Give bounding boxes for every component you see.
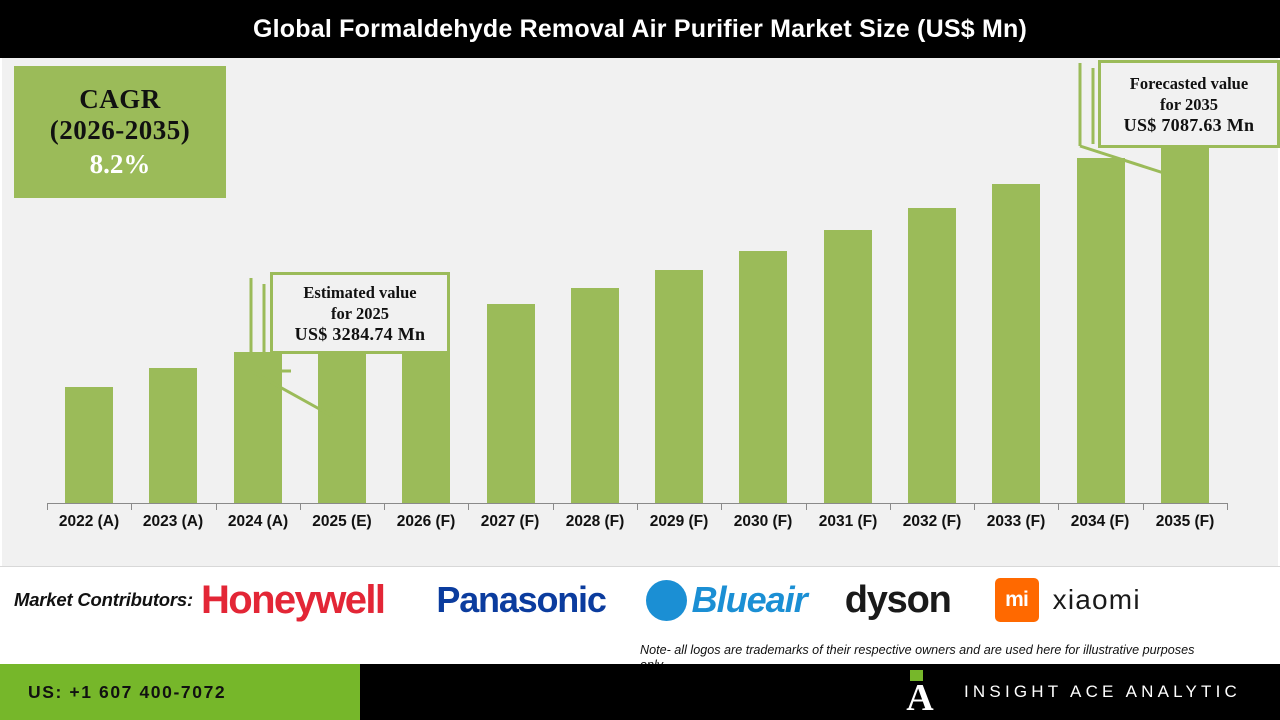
chart-plot-area: CAGR (2026-2035) 8.2% 2022 (A)2023 (A)20… bbox=[2, 58, 1278, 566]
honeywell-logo: Honeywell bbox=[201, 578, 384, 623]
title-bar: Global Formaldehyde Removal Air Purifier… bbox=[0, 0, 1280, 58]
chart-panel: CAGR (2026-2035) 8.2% 2022 (A)2023 (A)20… bbox=[0, 58, 1280, 566]
blueair-logo: Blueair bbox=[646, 579, 807, 621]
forecasted-value-callout: Forecasted value for 2035 US$ 7087.63 Mn bbox=[1098, 60, 1280, 148]
market-contributors-section: Market Contributors: Honeywell Panasonic… bbox=[0, 566, 1280, 665]
trademark-note-line1: Note- all logos are trademarks of their … bbox=[640, 643, 1194, 657]
dyson-logo: dyson bbox=[845, 579, 951, 622]
forecasted-callout-value: US$ 7087.63 Mn bbox=[1124, 115, 1255, 136]
insight-ace-logo-icon: A bbox=[900, 669, 940, 715]
forecasted-callout-line2: for 2035 bbox=[1160, 94, 1218, 115]
footer-phone-block: US: +1 607 400-7072 bbox=[0, 664, 360, 720]
xiaomi-logo: mi xiaomi bbox=[995, 578, 1141, 622]
footer-brand-block: A INSIGHT ACE ANALYTIC bbox=[360, 664, 1280, 720]
xiaomi-wordmark: xiaomi bbox=[1053, 584, 1141, 616]
logo-letter-a: A bbox=[900, 681, 940, 715]
brand-name: INSIGHT ACE ANALYTIC bbox=[964, 682, 1241, 702]
footer-phone: US: +1 607 400-7072 bbox=[28, 682, 226, 703]
xiaomi-mi-square-icon: mi bbox=[995, 578, 1039, 622]
footer-bar: US: +1 607 400-7072 A INSIGHT ACE ANALYT… bbox=[0, 664, 1280, 720]
blueair-circle-icon bbox=[646, 580, 687, 621]
infographic-page: Global Formaldehyde Removal Air Purifier… bbox=[0, 0, 1280, 720]
contributors-row: Market Contributors: Honeywell Panasonic… bbox=[0, 567, 1280, 633]
forecasted-callout-line1: Forecasted value bbox=[1130, 73, 1248, 94]
panasonic-logo: Panasonic bbox=[436, 579, 605, 621]
forecasted-callout-leader bbox=[2, 58, 1278, 566]
page-title: Global Formaldehyde Removal Air Purifier… bbox=[253, 15, 1027, 44]
blueair-wordmark: Blueair bbox=[692, 579, 807, 621]
xiaomi-mi-text: mi bbox=[1005, 588, 1028, 612]
market-contributors-label: Market Contributors: bbox=[14, 589, 193, 611]
